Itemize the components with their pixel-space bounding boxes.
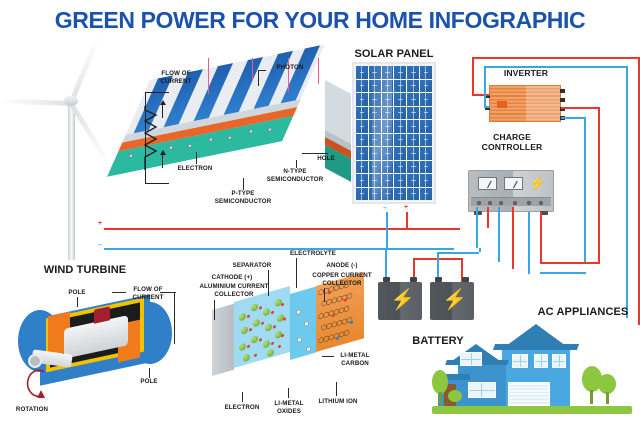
label-lithium-ion: LITHIUM ION (312, 398, 364, 406)
wire-return-blue-v (528, 212, 530, 274)
photon-ray (252, 58, 253, 80)
wire-negative-bus (104, 248, 454, 250)
leader-lithium-ion (336, 382, 337, 396)
house-window (534, 354, 548, 368)
wire-inverter-out-blue (561, 117, 585, 119)
controller-port[interactable] (488, 201, 492, 205)
house-eave (493, 344, 579, 350)
controller-port[interactable] (477, 201, 481, 205)
current-arrow-up (160, 100, 166, 105)
controller-port[interactable] (499, 201, 503, 205)
leader-photon (258, 70, 259, 86)
controller-body: ⚡ (468, 170, 554, 212)
house-garage-door[interactable] (508, 382, 550, 406)
leader-electron-liion (242, 392, 243, 402)
aluminium-collector-block (212, 304, 234, 376)
controller-port[interactable] (527, 201, 531, 205)
leader-p-type (243, 178, 244, 190)
battery-terminal-positive (462, 277, 469, 282)
lightning-bolt-icon: ⚡ (529, 176, 546, 190)
battery-positive-mark: + (413, 286, 417, 292)
wire-controller-out-neg (498, 207, 500, 262)
controller-port[interactable] (539, 201, 543, 205)
label-rotation: ROTATION (2, 406, 62, 414)
shrub (448, 390, 462, 402)
battery-positive-mark: + (465, 286, 469, 292)
wire-inverter-left-red (472, 57, 474, 94)
leader-electrolyte (296, 258, 297, 288)
leader-photon (258, 70, 266, 71)
separator-block (290, 287, 316, 360)
inverter-device[interactable] (489, 85, 561, 122)
controller-terminal-strip (471, 197, 551, 206)
solar-panel[interactable] (352, 62, 436, 204)
solar-cell-side (325, 80, 351, 182)
house-window (468, 382, 496, 398)
label-cathode: CATHODE (+) (206, 274, 258, 282)
panel-frame (352, 62, 436, 204)
wire-inverter-left-blue (484, 66, 486, 106)
attic-vent (534, 334, 539, 339)
turbine-blade-2 (68, 101, 114, 170)
leader-flow-current (112, 292, 126, 293)
shaft-end (28, 354, 42, 368)
battery-unit-1[interactable]: ⚡ + (378, 282, 422, 320)
leader-electron (196, 152, 197, 164)
cathode-block (234, 286, 290, 368)
wire-out-red-vert (598, 107, 600, 262)
inverter-terminal-out (560, 89, 565, 93)
leader-flow-current-h (160, 292, 176, 293)
label-electron-cell: ELECTRON (172, 165, 218, 173)
inverter-title: INVERTER (486, 68, 566, 78)
bus-negative-sign: – (98, 242, 102, 249)
inverter-body (489, 85, 561, 122)
inverter-indicator (497, 101, 507, 108)
wire-battery-link-blue (437, 252, 479, 254)
battery-body: ⚡ + (378, 282, 422, 320)
voltage-gauge (478, 177, 497, 190)
lithium-ion-cell-diagram: ⬡⬡⬡⬡⬡⬡ ⬡⬡⬡⬡⬡⬡ ⬡⬡⬡⬡⬡⬡ ⬡⬡⬡⬡⬡⬡ ⬡⬡⬡⬡⬡⬡ (212, 288, 372, 388)
wire-battery-bus-stub (479, 248, 481, 252)
tree-trunk (590, 390, 593, 404)
wire-inverter-out-red (561, 107, 599, 109)
battery-terminal-positive (410, 277, 417, 282)
tree-trunk (606, 392, 609, 404)
leader-anode (324, 288, 325, 302)
wire-inverter-top-blue (484, 66, 626, 68)
lightning-bolt-icon: ⚡ (390, 290, 415, 310)
rotation-arrow-icon (24, 368, 50, 402)
inverter-highlight (526, 86, 560, 121)
lightning-bolt-icon: ⚡ (442, 290, 467, 310)
current-gauge (504, 177, 523, 190)
label-hole: HOLE (310, 155, 342, 163)
wire-panel-negative (386, 212, 388, 248)
leader-cathode (214, 300, 215, 320)
turbine-hub (64, 96, 78, 106)
house-window (552, 354, 566, 368)
wire-controller-in-neg (476, 207, 478, 248)
wire-inverter-top-red (472, 57, 638, 59)
inverter-terminal-out (560, 98, 565, 102)
leader-oxides (288, 388, 289, 398)
tree-trunk (439, 392, 442, 404)
wind-turbine-title: WIND TURBINE (30, 264, 140, 277)
photon-ray (318, 58, 319, 84)
label-li-metal-oxides: LI-METAL OXIDES (266, 400, 312, 415)
wire-return-red-v (540, 212, 542, 264)
panel-terminal-positive: + (404, 204, 408, 211)
turbine-blade-1 (68, 31, 102, 105)
wire-panel-positive (406, 212, 408, 228)
controller-port[interactable] (513, 201, 517, 205)
panel-terminal-negative: – (383, 205, 387, 212)
house-window (512, 354, 528, 368)
wire-controller-in-pos (487, 207, 489, 228)
resistor-symbol (144, 106, 158, 170)
label-photon: PHOTON (264, 64, 316, 72)
leader-carbon (322, 356, 334, 357)
infographic-canvas: GREEN POWER FOR YOUR HOME INFOGRAPHIC WI… (0, 0, 640, 427)
label-aluminium-collector: ALUMINIUM CURRENT COLLECTOR (196, 283, 272, 298)
page-title: GREEN POWER FOR YOUR HOME INFOGRAPHIC (0, 6, 640, 34)
label-pole-top: POLE (56, 289, 98, 297)
leader-n-type (296, 160, 297, 168)
label-anode: ANODE (-) (318, 262, 366, 270)
lawn (432, 406, 632, 414)
current-arrow-up (160, 150, 166, 155)
leader-flow-current-v (174, 292, 175, 344)
label-separator: SEPARATOR (224, 262, 280, 270)
wire-inverter-in-blue (484, 106, 490, 108)
label-electrolyte: ELECTROLYTE (282, 250, 344, 258)
battery-terminal-negative (383, 277, 390, 282)
panel-cell-grid (356, 66, 432, 200)
label-copper-collector: COPPER CURRENT COLLECTOR (306, 272, 378, 287)
turbine-blade-3 (0, 98, 72, 106)
label-li-metal-carbon: LI-METAL CARBON (332, 352, 378, 367)
charge-controller-title: CHARGE CONTROLLER (470, 132, 554, 153)
leader-hole (302, 153, 328, 154)
wire-far-right-red (638, 57, 640, 325)
solar-panel-title: SOLAR PANEL (344, 48, 444, 61)
wire-return-red-h (540, 262, 600, 264)
label-electron-liion: ELECTRON (218, 404, 266, 412)
tree-foliage (598, 374, 616, 394)
wire-inverter-in-red (472, 94, 490, 96)
external-circuit-resistor (145, 88, 175, 188)
wire-far-right-blue (626, 66, 628, 318)
current-arrow-stem (162, 104, 163, 118)
house-window (460, 352, 482, 366)
leader-pole-bottom (149, 368, 150, 378)
charge-controller-device[interactable]: ⚡ (468, 170, 554, 212)
label-pole-bottom: POLE (128, 378, 170, 386)
tree-foliage (432, 370, 448, 394)
wire-controller-out-pos (512, 207, 514, 269)
battery-terminal-negative (435, 277, 442, 282)
wire-out-blue-vert (584, 117, 586, 262)
leader-pole-top (77, 297, 78, 307)
label-flow-of-current-generator: FLOW OF CURRENT (122, 286, 174, 301)
label-n-type: N-TYPE SEMICONDUCTOR (258, 168, 332, 183)
label-flow-of-current-cell: FLOW OF CURRENT (150, 70, 202, 85)
bus-positive-sign: + (98, 220, 102, 227)
wire-return-blue-h (540, 272, 586, 274)
label-p-type: P-TYPE SEMICONDUCTOR (206, 190, 280, 205)
photon-ray (208, 58, 209, 94)
current-arrow-stem (162, 154, 163, 168)
turbine-tower (68, 102, 75, 260)
house-illustration (432, 312, 632, 420)
wire-positive-bus (104, 228, 460, 230)
